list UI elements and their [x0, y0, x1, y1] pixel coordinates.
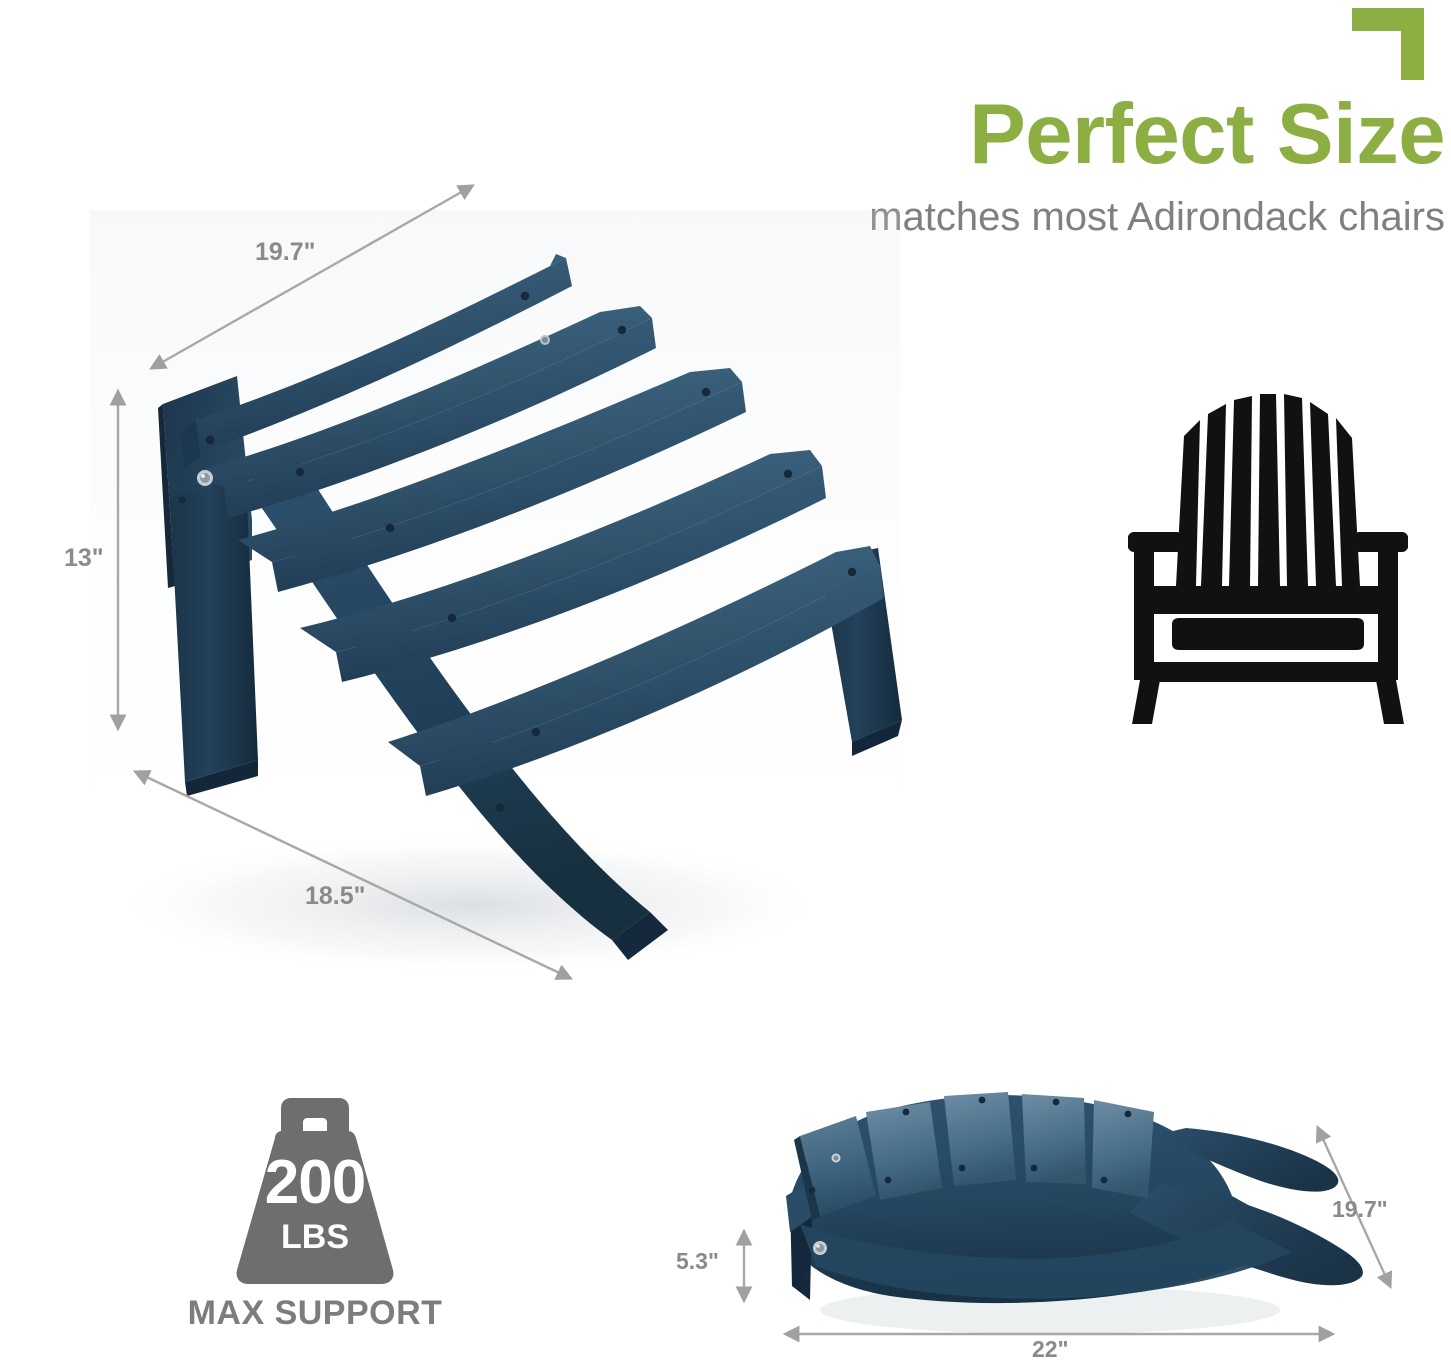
folded-slat-5 — [1092, 1100, 1154, 1198]
infographic-page: Perfect Size matches most Adirondack cha… — [0, 0, 1451, 1369]
page-title: Perfect Size — [700, 92, 1445, 177]
slat-2 — [200, 306, 656, 518]
dimension-label-height: 13" — [64, 544, 104, 573]
corner-bracket-vertical-bar — [1401, 8, 1424, 80]
folded-slat-1 — [794, 1116, 876, 1220]
weight-icon: 200 LBS — [215, 1098, 415, 1288]
dimension-label-width-top: 19.7" — [255, 238, 316, 267]
slat-4 — [300, 450, 826, 682]
dimension-label-folded-depth: 19.7" — [1332, 1196, 1388, 1223]
corner-bracket-icon — [1352, 8, 1424, 80]
folded-slat-3 — [944, 1092, 1016, 1186]
folded-slat-4 — [1022, 1094, 1086, 1184]
slat-1 — [180, 254, 572, 468]
dimension-label-folded-height: 5.3" — [676, 1248, 719, 1275]
weight-amount: 200 — [215, 1152, 415, 1214]
weight-unit: LBS — [215, 1220, 415, 1254]
page-subtitle: matches most Adirondack chairs — [700, 195, 1445, 239]
slat-3 — [238, 368, 746, 592]
max-support-caption: MAX SUPPORT — [150, 1294, 480, 1333]
dimension-label-depth: 18.5" — [305, 882, 366, 911]
headline-block: Perfect Size matches most Adirondack cha… — [700, 92, 1445, 239]
max-support-block: 200 LBS MAX SUPPORT — [150, 1098, 480, 1333]
folded-slat-2 — [866, 1102, 942, 1200]
dimension-label-folded-width: 22" — [1032, 1336, 1069, 1363]
slat-5 — [388, 546, 884, 812]
adirondack-chair-icon — [1128, 380, 1408, 740]
